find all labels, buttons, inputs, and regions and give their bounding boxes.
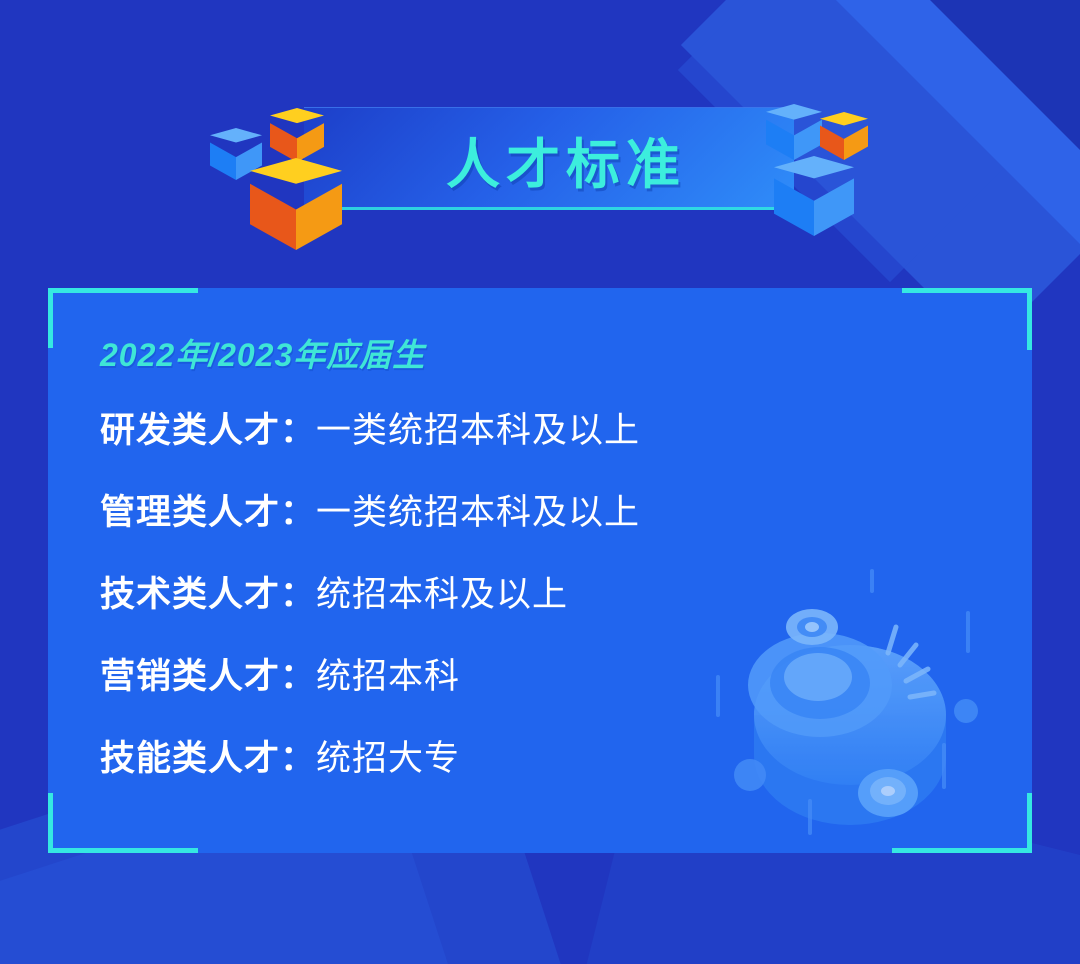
bracket-vertical [1027,288,1032,350]
list-item: 技术类人才： 统招本科及以上 [100,566,992,648]
title-banner: 人才标准 [208,96,858,220]
talent-category-label: 技术类人才： [100,566,316,617]
talent-requirement-value: 一类统招本科及以上 [316,402,640,453]
cube-blue-small-right [766,104,822,160]
list-item: 技能类人才： 统招大专 [100,730,992,812]
talent-requirement-value: 统招本科及以上 [316,566,568,617]
graduation-year-subheading: 2022年/2023年应届生 [100,330,992,376]
talent-requirement-value: 统招本科 [316,648,460,699]
list-item: 管理类人才： 一类统招本科及以上 [100,484,992,566]
bracket-vertical [48,288,53,348]
talent-category-label: 研发类人才： [100,402,316,453]
bracket-horizontal [48,288,198,293]
bracket-vertical [48,793,53,853]
list-item: 研发类人才： 一类统招本科及以上 [100,402,992,484]
cube-yellow-large-left [250,158,342,250]
talent-requirement-value: 统招大专 [316,730,460,781]
poster-canvas: 人才标准 [0,0,1080,964]
bracket-horizontal [48,848,198,853]
requirements-content: 2022年/2023年应届生 研发类人才： 一类统招本科及以上 管理类人才： 一… [100,330,992,812]
talent-requirement-list: 研发类人才： 一类统招本科及以上 管理类人才： 一类统招本科及以上 技术类人才：… [100,402,992,812]
cube-yellow-small-right [820,112,868,160]
cube-blue-large-right [774,156,854,236]
cube-yellow-small-left [270,108,324,162]
page-title: 人才标准 [304,108,794,210]
bracket-horizontal [892,848,1032,853]
corner-shape-top-right-c [930,0,1080,150]
content-panel: 2022年/2023年应届生 研发类人才： 一类统招本科及以上 管理类人才： 一… [48,288,1032,853]
talent-category-label: 营销类人才： [100,648,316,699]
talent-requirement-value: 一类统招本科及以上 [316,484,640,535]
bracket-horizontal [902,288,1032,293]
talent-category-label: 技能类人才： [100,730,316,781]
list-item: 营销类人才： 统招本科 [100,648,992,730]
bracket-vertical [1027,793,1032,853]
talent-category-label: 管理类人才： [100,484,316,535]
